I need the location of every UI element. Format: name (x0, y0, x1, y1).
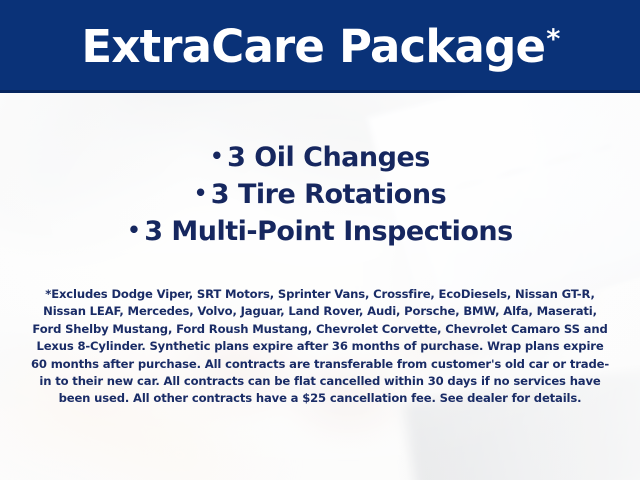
bullet-icon: • (127, 218, 140, 242)
page-title-text: ExtraCare Package (81, 20, 545, 73)
benefit-label: 3 Multi-Point Inspections (144, 216, 513, 247)
page-title: ExtraCare Package* (81, 24, 558, 69)
extracare-package-promo-card: ExtraCare Package* •3 Oil Changes •3 Tir… (0, 0, 640, 480)
benefit-label: 3 Oil Changes (227, 142, 430, 173)
benefit-item-tire-rotations: •3 Tire Rotations (0, 177, 640, 214)
benefits-list: •3 Oil Changes •3 Tire Rotations •3 Mult… (0, 140, 640, 251)
benefit-item-multi-point-inspections: •3 Multi-Point Inspections (0, 214, 640, 251)
bullet-icon: • (194, 181, 207, 205)
benefit-label: 3 Tire Rotations (211, 179, 446, 210)
benefit-item-oil-changes: •3 Oil Changes (0, 140, 640, 177)
page-title-asterisk: * (546, 24, 559, 55)
bullet-icon: • (210, 144, 223, 168)
disclaimer-text: *Excludes Dodge Viper, SRT Motors, Sprin… (30, 286, 610, 408)
header-bar: ExtraCare Package* (0, 0, 640, 93)
